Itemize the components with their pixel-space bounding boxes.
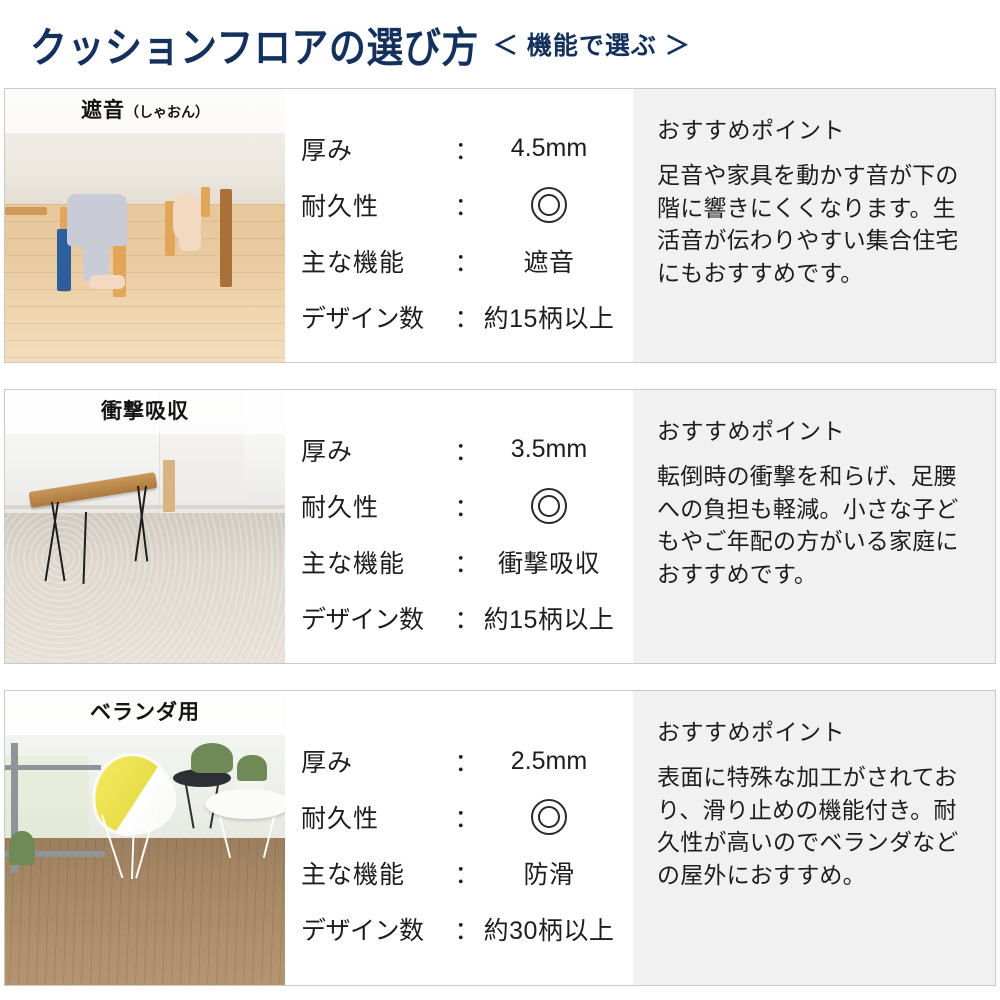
spec-table-shaon: 厚み ： 4.5mm 耐久性 ： 主な機能 ： 遮音 デザイン数 ： 約15柄以…	[285, 89, 633, 362]
card-label-text: 遮音	[81, 99, 125, 122]
spec-table-veranda: 厚み ： 2.5mm 耐久性 ： 主な機能 ： 防滑 デザイン数 ： 約30柄以…	[285, 691, 633, 985]
card-label-text: 衝撃吸収	[101, 400, 189, 423]
spec-colon: ：	[453, 488, 481, 524]
double-circle-icon	[531, 799, 567, 835]
card-photo-veranda: ベランダ用	[5, 691, 285, 985]
card-label-shock-absorption: 衝撃吸収	[5, 390, 285, 434]
spec-label-thickness: 厚み	[301, 743, 453, 779]
page-subtitle: ＜ 機能で選ぶ ＞	[493, 26, 691, 62]
spec-colon: ：	[453, 600, 481, 636]
double-circle-icon	[531, 187, 567, 223]
spec-row-design-count: デザイン数 ： 約30柄以上	[301, 901, 633, 957]
spec-value-design-count: 約15柄以上	[481, 299, 633, 335]
spec-colon: ：	[453, 743, 481, 779]
spec-row-main-function: 主な機能 ： 防滑	[301, 845, 633, 901]
spec-value-thickness: 2.5mm	[481, 747, 633, 776]
spec-row-thickness: 厚み ： 2.5mm	[301, 733, 633, 789]
photo-scene-balcony-wood-deck	[5, 691, 285, 985]
spec-colon: ：	[453, 544, 481, 580]
spec-label-main-function: 主な機能	[301, 243, 453, 279]
spec-label-design-count: デザイン数	[301, 600, 453, 636]
recommend-panel-veranda: おすすめポイント 表面に特殊な加工がされており、滑り止めの機能付き。耐久性が高い…	[633, 691, 995, 985]
spec-colon: ：	[453, 799, 481, 835]
spec-label-durability: 耐久性	[301, 799, 453, 835]
spec-label-design-count: デザイン数	[301, 911, 453, 947]
spec-row-durability: 耐久性 ：	[301, 789, 633, 845]
product-card-veranda[interactable]: ベランダ用 厚み ： 2.5mm 耐久性 ： 主な機能 ： 防滑 デザイン数 ：	[4, 690, 996, 986]
double-circle-icon	[531, 488, 567, 524]
spec-colon: ：	[453, 299, 481, 335]
spec-label-thickness: 厚み	[301, 432, 453, 468]
card-label-ruby: （しゃおん）	[125, 104, 209, 120]
spec-label-design-count: デザイン数	[301, 299, 453, 335]
recommend-body: 足音や家具を動かす音が下の階に響きにくくなります。生活音が伝わりやすい集合住宅に…	[657, 159, 977, 290]
spec-colon: ：	[453, 187, 481, 223]
recommend-panel-shock-absorption: おすすめポイント 転倒時の衝撃を和らげ、足腰への負担も軽減。小さな子どもやご年配…	[633, 390, 995, 663]
spec-row-main-function: 主な機能 ： 遮音	[301, 233, 633, 289]
spec-colon: ：	[453, 855, 481, 891]
card-photo-shock-absorption: 衝撃吸収	[5, 390, 285, 663]
spec-value-main-function: 衝撃吸収	[481, 544, 633, 580]
spec-row-thickness: 厚み ： 3.5mm	[301, 422, 633, 478]
spec-colon: ：	[453, 432, 481, 468]
spec-row-main-function: 主な機能 ： 衝撃吸収	[301, 534, 633, 590]
spec-row-durability: 耐久性 ：	[301, 177, 633, 233]
page-header: クッションフロアの選び方 ＜ 機能で選ぶ ＞	[0, 0, 1000, 88]
spec-label-main-function: 主な機能	[301, 544, 453, 580]
spec-label-main-function: 主な機能	[301, 855, 453, 891]
spec-value-durability	[481, 187, 633, 223]
recommend-heading: おすすめポイント	[657, 111, 977, 145]
card-label-text: ベランダ用	[90, 701, 200, 724]
spec-value-thickness: 3.5mm	[481, 435, 633, 464]
spec-value-thickness: 4.5mm	[481, 134, 633, 163]
recommend-body: 表面に特殊な加工がされており、滑り止めの機能付き。耐久性が高いのでベランダなどの…	[657, 761, 977, 892]
recommend-heading: おすすめポイント	[657, 412, 977, 446]
infographic-page: クッションフロアの選び方 ＜ 機能で選ぶ ＞ 遮音（	[0, 0, 1000, 1000]
spec-label-durability: 耐久性	[301, 488, 453, 524]
spec-row-thickness: 厚み ： 4.5mm	[301, 121, 633, 177]
card-label-shaon: 遮音（しゃおん）	[5, 89, 285, 133]
spec-value-durability	[481, 799, 633, 835]
spec-label-durability: 耐久性	[301, 187, 453, 223]
spec-label-thickness: 厚み	[301, 131, 453, 167]
spec-value-main-function: 防滑	[481, 855, 633, 891]
spec-colon: ：	[453, 131, 481, 167]
spec-table-shock-absorption: 厚み ： 3.5mm 耐久性 ： 主な機能 ： 衝撃吸収 デザイン数 ： 約15…	[285, 390, 633, 663]
spec-colon: ：	[453, 911, 481, 947]
recommend-panel-shaon: おすすめポイント 足音や家具を動かす音が下の階に響きにくくなります。生活音が伝わ…	[633, 89, 995, 362]
spec-colon: ：	[453, 243, 481, 279]
spec-value-design-count: 約30柄以上	[481, 911, 633, 947]
page-title: クッションフロアの選び方	[30, 14, 479, 74]
recommend-heading: おすすめポイント	[657, 713, 977, 747]
spec-row-durability: 耐久性 ：	[301, 478, 633, 534]
card-label-veranda: ベランダ用	[5, 691, 285, 735]
product-card-shaon[interactable]: 遮音（しゃおん） 厚み ： 4.5mm 耐久性 ： 主な機能 ： 遮音 デザイン…	[4, 88, 996, 363]
spec-value-durability	[481, 488, 633, 524]
spec-row-design-count: デザイン数 ： 約15柄以上	[301, 590, 633, 646]
product-card-shock-absorption[interactable]: 衝撃吸収 厚み ： 3.5mm 耐久性 ： 主な機能 ： 衝撃吸収 デザイン数 …	[4, 389, 996, 664]
spec-value-main-function: 遮音	[481, 243, 633, 279]
recommend-body: 転倒時の衝撃を和らげ、足腰への負担も軽減。小さな子どもやご年配の方がいる家庭にお…	[657, 460, 977, 591]
spec-value-design-count: 約15柄以上	[481, 600, 633, 636]
card-photo-shaon: 遮音（しゃおん）	[5, 89, 285, 362]
spec-row-design-count: デザイン数 ： 約15柄以上	[301, 289, 633, 345]
